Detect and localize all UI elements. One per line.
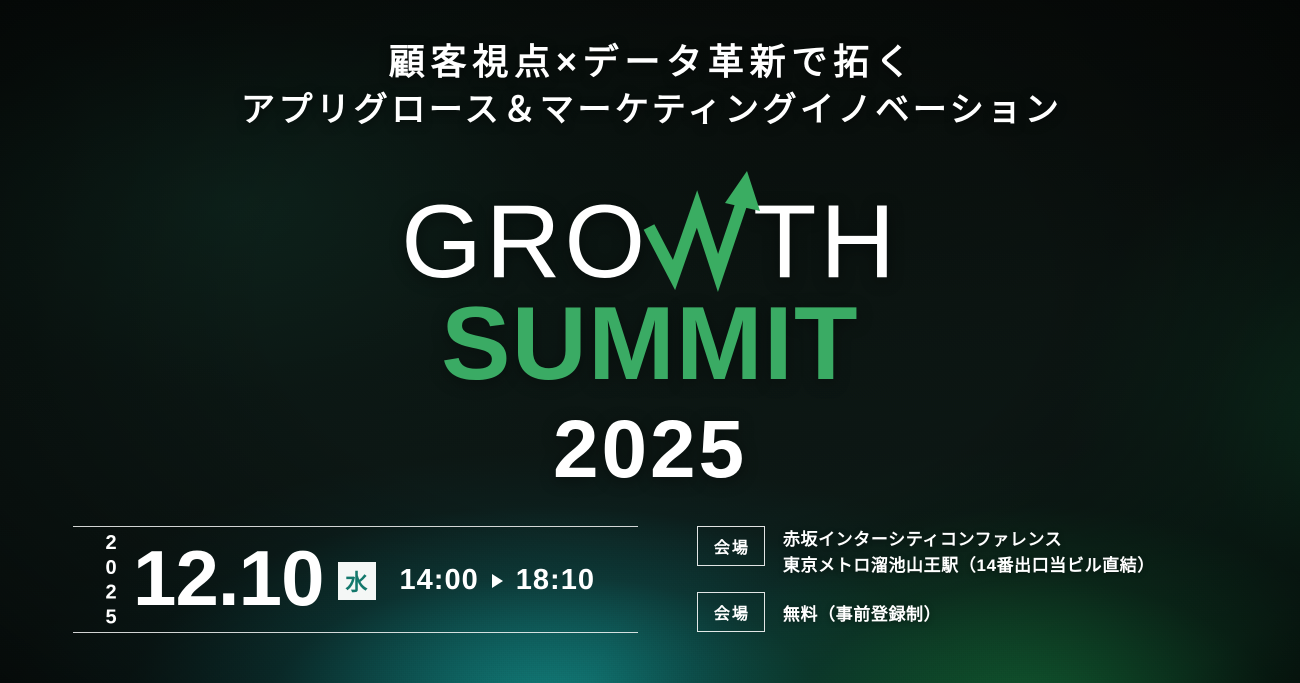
venue-list: 会場 赤坂インターシティコンファレンス 東京メトロ溜池山王駅（14番出口当ビル直… bbox=[697, 526, 1155, 632]
logo-growth-left: GRO bbox=[401, 184, 649, 300]
venue-text: 赤坂インターシティコンファレンス 東京メトロ溜池山王駅（14番出口当ビル直結） bbox=[783, 526, 1155, 578]
logo-lockup: GROTH SUMMIT 2025 bbox=[0, 183, 1300, 491]
fee-row: 会場 無料（事前登録制） bbox=[697, 592, 1155, 632]
time-end: 18:10 bbox=[516, 564, 595, 597]
headline: 顧客視点×データ革新で拓く アプリグロース＆マーケティングイノベーション bbox=[0, 38, 1300, 135]
event-time: 14:00 18:10 bbox=[400, 564, 596, 597]
venue-row: 会場 赤坂インターシティコンファレンス 東京メトロ溜池山王駅（14番出口当ビル直… bbox=[697, 526, 1155, 578]
fee-text: 無料（事前登録制） bbox=[783, 592, 941, 628]
fee-line: 無料（事前登録制） bbox=[783, 602, 941, 628]
event-year: 2025 bbox=[101, 532, 121, 631]
time-separator-triangle-icon bbox=[492, 574, 503, 588]
venue-line: 東京メトロ溜池山王駅（14番出口当ビル直結） bbox=[783, 553, 1155, 579]
weekday-badge: 水 bbox=[338, 562, 376, 600]
time-start: 14:00 bbox=[400, 564, 479, 597]
event-info: 2025 12.10 水 14:00 18:10 会場 赤坂インターシティコンフ… bbox=[0, 512, 1300, 662]
logo-summit-wordmark: SUMMIT bbox=[0, 289, 1300, 399]
venue-badge-label: 会場 bbox=[697, 526, 765, 566]
logo-growth-right: TH bbox=[753, 184, 899, 300]
fee-badge-label: 会場 bbox=[697, 592, 765, 632]
growth-arrow-icon bbox=[641, 165, 771, 293]
event-key-visual: 顧客視点×データ革新で拓く アプリグロース＆マーケティングイノベーション GRO… bbox=[0, 0, 1300, 683]
headline-line-1: 顧客視点×データ革新で拓く bbox=[0, 38, 1300, 86]
date-time-block: 2025 12.10 水 14:00 18:10 bbox=[73, 526, 638, 633]
venue-line: 赤坂インターシティコンファレンス bbox=[783, 527, 1155, 553]
event-date: 12.10 bbox=[133, 539, 324, 617]
logo-growth-wordmark: GROTH bbox=[401, 183, 899, 301]
logo-year: 2025 bbox=[0, 409, 1300, 491]
headline-line-2: アプリグロース＆マーケティングイノベーション bbox=[0, 86, 1300, 134]
